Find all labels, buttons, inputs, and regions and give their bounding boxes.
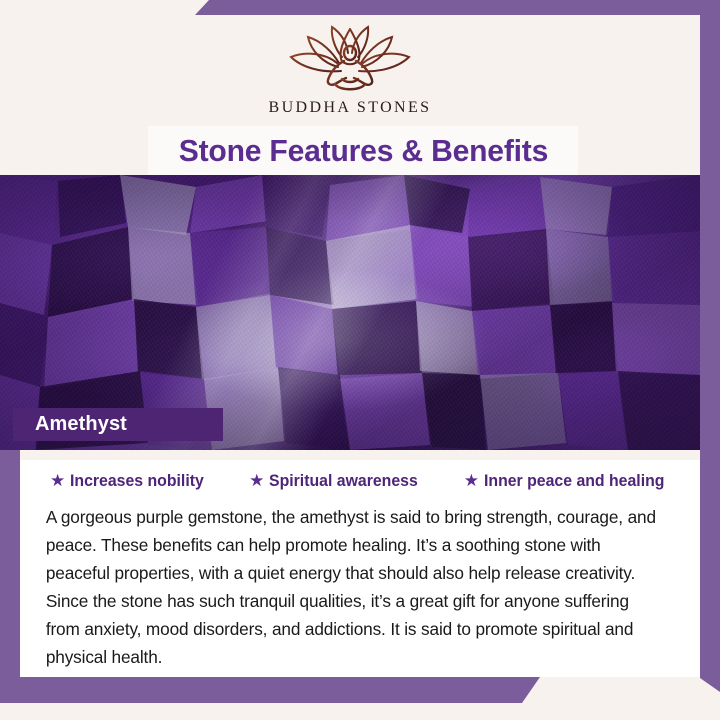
content-card: ★ Increases nobility ★ Spiritual awarene… (20, 450, 700, 677)
feature-list: ★ Increases nobility ★ Spiritual awarene… (34, 464, 684, 491)
frame-top-bar (195, 0, 720, 15)
card-top-strip (20, 450, 700, 460)
stone-name-tag: Amethyst (13, 408, 223, 441)
feature-item: ★ Spiritual awareness (249, 472, 424, 491)
lotus-meditation-figure-icon (275, 23, 425, 95)
star-icon: ★ (249, 472, 264, 489)
feature-item: ★ Increases nobility (50, 472, 210, 491)
page-title: Stone Features & Benefits (178, 133, 547, 169)
infographic-page: BUDDHA STONES Stone Features & Benefits (0, 0, 720, 720)
frame-right-strip (700, 0, 720, 692)
title-banner: Stone Features & Benefits (148, 126, 578, 175)
frame-left-strip (0, 440, 20, 692)
stone-description: A gorgeous purple gemstone, the amethyst… (34, 503, 674, 671)
star-icon: ★ (50, 472, 65, 489)
feature-item: ★ Inner peace and healing (464, 472, 672, 491)
stone-name-label: Amethyst (35, 413, 127, 436)
brand-wordmark: BUDDHA STONES (269, 99, 432, 117)
star-icon: ★ (464, 472, 479, 489)
feature-label: Spiritual awareness (269, 472, 418, 491)
frame-bottom-bar (0, 677, 540, 703)
brand-logo: BUDDHA STONES (0, 23, 700, 117)
feature-label: Increases nobility (70, 472, 204, 491)
feature-label: Inner peace and healing (484, 472, 664, 491)
